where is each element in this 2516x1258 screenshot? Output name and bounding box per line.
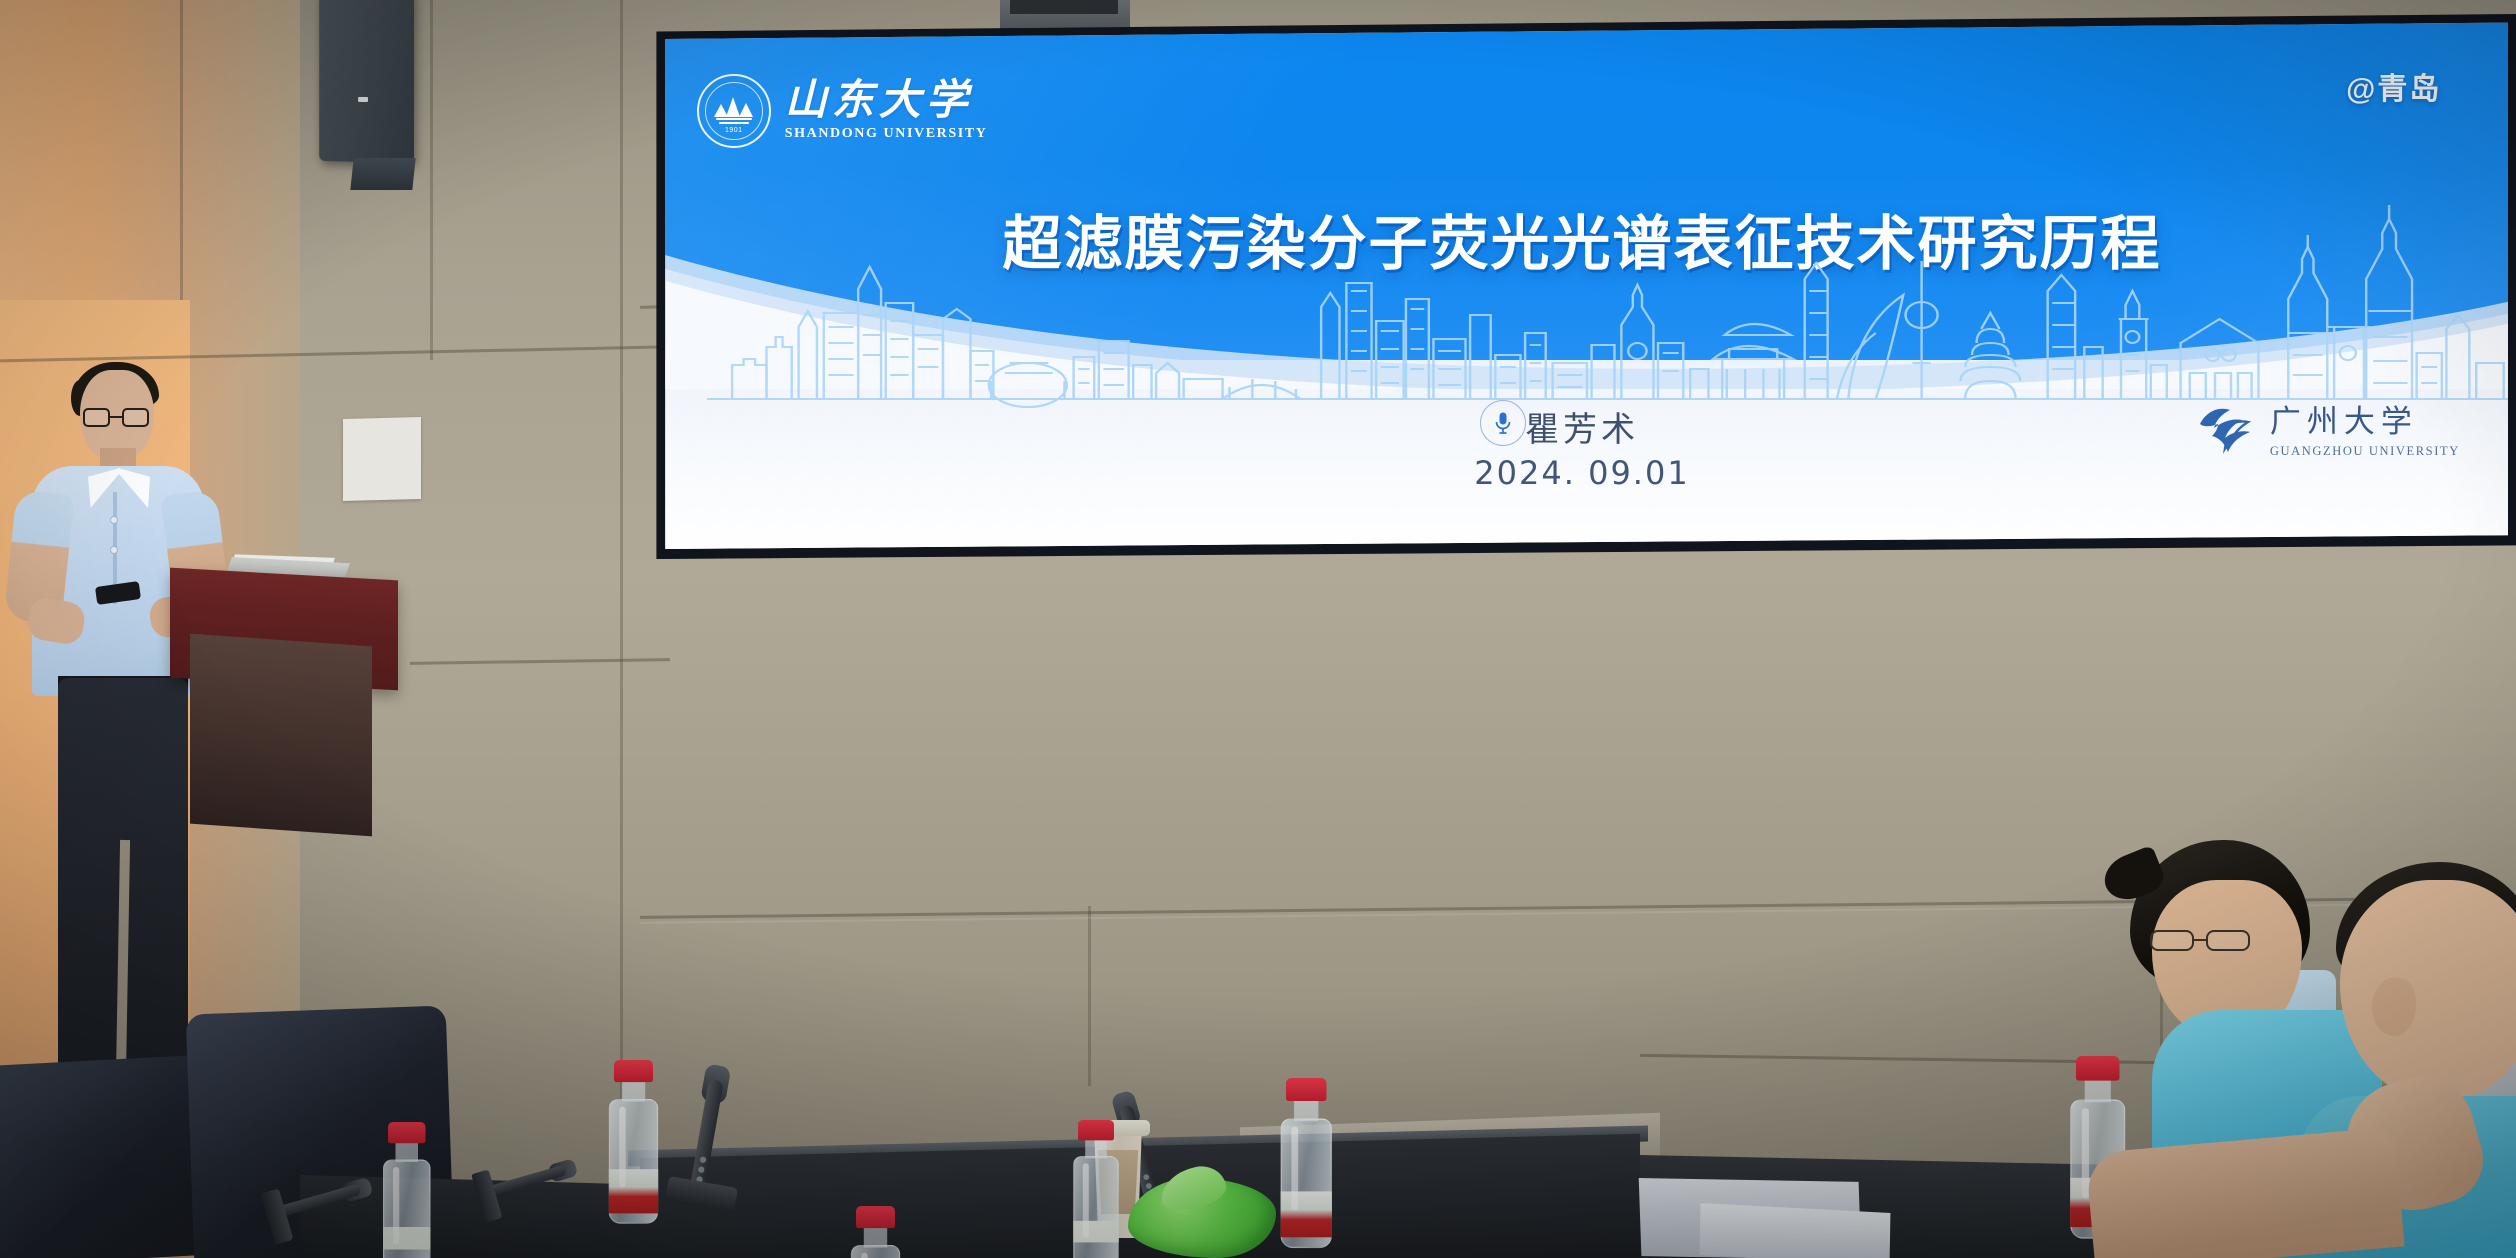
presenter-shirt-button: [110, 516, 118, 524]
ceiling-mount-box: [1010, 0, 1118, 14]
attendee-eyeglasses: [2150, 930, 2258, 952]
wall-notice-card: [343, 417, 421, 501]
guangzhou-university-logo: 广州大学 GUANGZHOU UNIVERSITY: [2192, 396, 2460, 459]
wall-panel-seam-v: [1088, 906, 1091, 1086]
shandong-university-logo: 1901 山东大学 SHANDONG UNIVERSITY: [697, 74, 988, 148]
gzhu-bird-mark-icon: [2192, 400, 2258, 456]
lectern-body: [190, 634, 372, 837]
attendee-near-ear: [2372, 978, 2416, 1036]
wall-panel-seam-v: [430, 0, 433, 360]
presenter-eyeglasses: [82, 408, 152, 428]
presentation-date: 2024. 09.01: [656, 454, 2508, 492]
wall-speaker: [319, 0, 414, 163]
presentation-display-frame: 1901 山东大学 SHANDONG UNIVERSITY @青岛 超滤膜污染分…: [648, 14, 2516, 559]
sdu-seal-icon: 1901: [697, 74, 771, 148]
presentation-slide: 1901 山东大学 SHANDONG UNIVERSITY @青岛 超滤膜污染分…: [656, 21, 2508, 550]
speaker-led-indicator: [358, 97, 368, 102]
presentation-room-photo: 1901 山东大学 SHANDONG UNIVERSITY @青岛 超滤膜污染分…: [0, 0, 2516, 1258]
presenter-shirt-button: [110, 546, 118, 554]
sdu-seal-year: 1901: [725, 127, 743, 134]
paper-document: [1700, 1203, 1891, 1258]
gzhu-name-en: GUANGZHOU UNIVERSITY: [2270, 444, 2460, 459]
sdu-wordmark: 山东大学 SHANDONG UNIVERSITY: [785, 79, 988, 142]
wall-panel-seam-v: [620, 0, 623, 1100]
wall-panel-seam-v: [180, 0, 183, 300]
sdu-name-cn: 山东大学: [785, 79, 988, 121]
location-tag: @青岛: [2346, 64, 2441, 108]
slide-footer: 瞿芳术 2024. 09.01 广州大学 GUANGZHOU UNIVERSIT…: [656, 396, 2508, 526]
sdu-name-en: SHANDONG UNIVERSITY: [785, 126, 988, 142]
speaker-mount-bracket: [350, 158, 415, 190]
gzhu-name-cn: 广州大学: [2270, 396, 2460, 441]
qingdao-skyline-illustration: [684, 203, 2508, 423]
sdu-mountain-glyph: [714, 96, 754, 126]
gzhu-wordmark: 广州大学 GUANGZHOU UNIVERSITY: [2270, 396, 2460, 459]
